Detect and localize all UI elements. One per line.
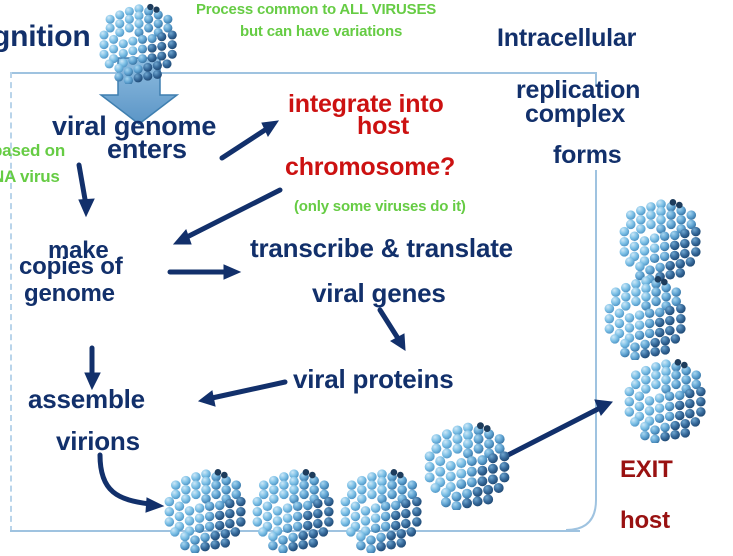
virus-capsid-icon-exit-1 — [620, 199, 701, 284]
label-complex: complex — [525, 102, 625, 127]
label-based-on: based on — [0, 142, 65, 159]
virus-capsid-icon-assembled-3 — [341, 469, 422, 554]
virus-capsid-icon-exit-2 — [605, 276, 686, 361]
arrow-down-icon-assemble — [85, 348, 100, 389]
virus-capsid-icon-assembled-2 — [253, 469, 334, 554]
label-assemble: assemble — [28, 386, 145, 412]
label-exit-host: host — [620, 509, 670, 533]
label-forms: forms — [553, 143, 621, 168]
label-exit: EXIT — [620, 458, 673, 482]
arrow-down-right-icon-proteins — [380, 310, 405, 350]
curved-arrow-right-icon — [100, 455, 163, 512]
arrow-down-icon-genome — [79, 165, 94, 216]
label-na-virus: NA virus — [0, 168, 60, 185]
label-transcribe-translate: transcribe & translate — [250, 235, 513, 261]
label-virions: virions — [56, 428, 140, 454]
viral-replication-diagram: gnition Process common to ALL VIRUSES bu… — [0, 0, 733, 556]
label-recognition: gnition — [0, 22, 91, 52]
label-process-note-line2: but can have variations — [240, 24, 402, 39]
label-only-some-viruses: (only some viruses do it) — [294, 199, 466, 214]
label-process-note-line1: Process common to ALL VIRUSES — [196, 2, 436, 17]
cell-membrane-top — [10, 72, 596, 74]
label-copies-of: copies of — [19, 255, 123, 279]
label-viral-proteins: viral proteins — [293, 366, 453, 392]
arrow-left-icon-assemble — [199, 382, 285, 406]
label-intracellular: Intracellular — [497, 26, 636, 51]
label-chromosome: chromosome? — [285, 155, 455, 180]
virus-capsid-icon-exit-3 — [625, 359, 706, 444]
arrow-up-right-icon-integrate — [222, 121, 278, 158]
label-host: host — [357, 114, 409, 139]
cell-membrane-bottom — [10, 530, 580, 532]
cell-membrane-right — [566, 170, 596, 530]
arrow-right-icon-transcribe — [170, 265, 240, 279]
virus-capsid-icon-assembled-1 — [165, 469, 246, 554]
virus-capsid-icon-assembled-4 — [425, 422, 510, 511]
label-enters: enters — [107, 136, 187, 163]
arrow-up-right-icon-exit — [508, 400, 612, 455]
label-viral-genes: viral genes — [312, 280, 446, 306]
label-genome: genome — [24, 282, 115, 306]
